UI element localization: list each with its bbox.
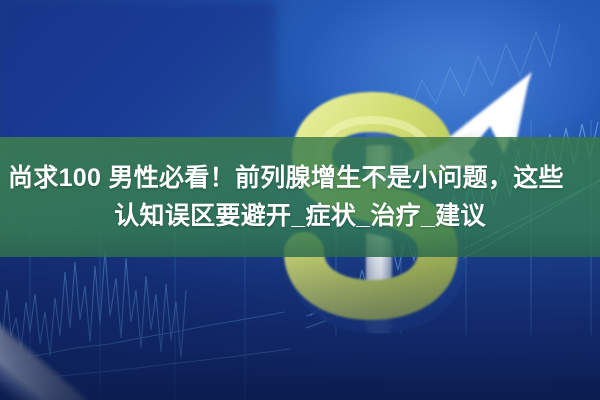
headline-line-2: 认知误区要避开_症状_治疗_建议 bbox=[114, 199, 486, 233]
background-bottom-shade bbox=[0, 232, 600, 400]
headline-line-1: 尚求100 男性必看！前列腺增生不是小问题，这些 bbox=[0, 161, 600, 195]
headline-text-block: 尚求100 男性必看！前列腺增生不是小问题，这些 认知误区要避开_症状_治疗_建… bbox=[0, 137, 600, 257]
banner-image: 尚求100 男性必看！前列腺增生不是小问题，这些 认知误区要避开_症状_治疗_建… bbox=[0, 0, 600, 400]
